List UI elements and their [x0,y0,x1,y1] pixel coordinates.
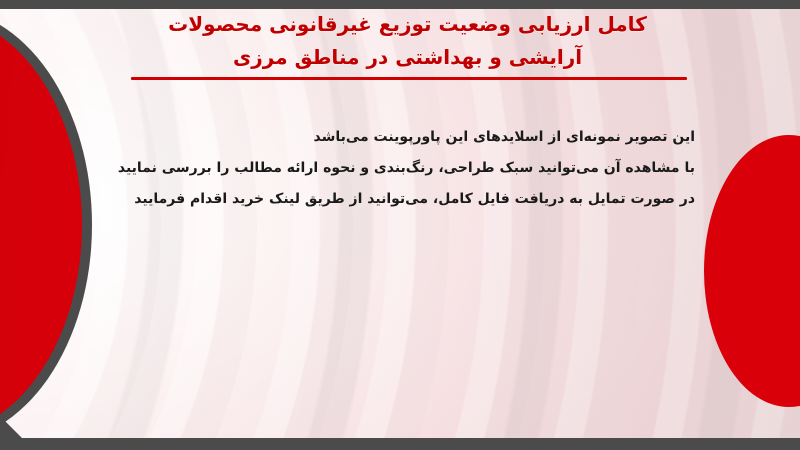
title-line-2: آرایشی و بهداشتی در مناطق مرزی [120,41,695,74]
slide-body-text: این تصویر نمونه‌ای از اسلایدهای این پاور… [130,122,695,215]
body-line-1: این تصویر نمونه‌ای از اسلایدهای این پاور… [130,122,695,153]
body-line-3: در صورت تمایل به دریافت فایل کامل، می‌تو… [130,184,695,215]
title-underline-rule [131,77,687,80]
slide-canvas: کامل ارزیابی وضعیت توزیع غیرقانونی محصول… [0,0,800,450]
body-line-2: با مشاهده آن می‌توانید سبک طراحی، رنگ‌بن… [130,153,695,184]
slide-title: کامل ارزیابی وضعیت توزیع غیرقانونی محصول… [120,8,695,74]
title-line-1: کامل ارزیابی وضعیت توزیع غیرقانونی محصول… [120,8,695,41]
